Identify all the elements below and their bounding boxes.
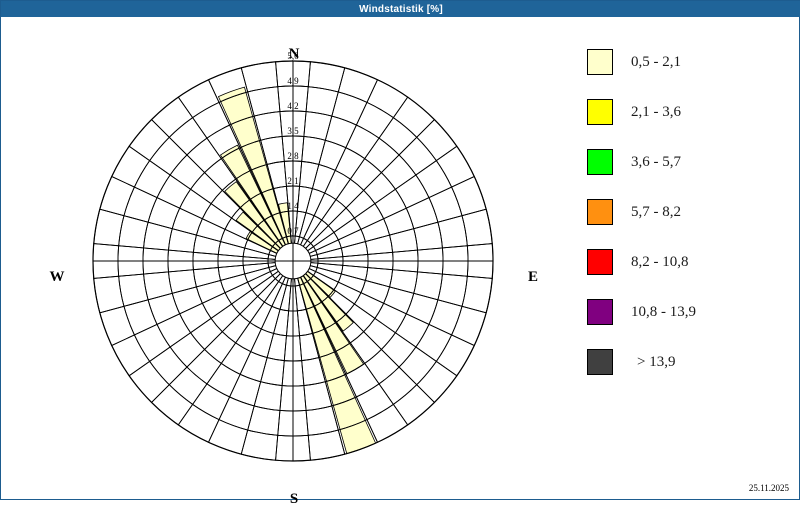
grid-cell [416, 324, 452, 361]
legend-color-swatch [587, 249, 613, 275]
grid-cell [384, 208, 414, 235]
legend-color-swatch [587, 349, 613, 375]
grid-cell [384, 287, 414, 314]
grid-cell [129, 361, 169, 402]
grid-cell [365, 138, 399, 172]
legend-color-swatch [587, 49, 613, 75]
grid-cell [170, 333, 204, 367]
grid-cell [399, 137, 436, 175]
legend-item-label: 8,2 - 10,8 [631, 254, 689, 271]
radial-tick-label: 0,7 [276, 226, 310, 236]
grid-cell [264, 281, 282, 306]
grid-cell [148, 293, 180, 324]
grid-cell [100, 176, 135, 215]
radial-tick-label: 4,2 [276, 101, 310, 111]
grid-cell [232, 290, 258, 314]
grid-cell [193, 384, 230, 420]
grid-cell [319, 140, 346, 170]
grid-cell [364, 318, 396, 349]
grid-cell [157, 175, 191, 208]
grid-cell [332, 92, 367, 125]
grid-cell [390, 270, 418, 294]
grid-cell [261, 306, 280, 333]
grid-cell [187, 138, 221, 172]
radial-tick-label: 3,5 [276, 126, 310, 136]
grid-cell [350, 159, 381, 191]
legend-item-label: 0,5 - 2,1 [631, 54, 681, 71]
grid-cell [170, 155, 204, 189]
grid-cell [191, 173, 223, 204]
grid-cell [172, 208, 202, 235]
grid-cell [187, 349, 221, 383]
grid-cell [218, 242, 244, 257]
grid-cell [274, 309, 289, 335]
grid-cell [325, 116, 356, 148]
grid-cell [221, 229, 248, 248]
grid-cell [452, 176, 487, 215]
grid-cell [341, 265, 367, 280]
grid-cell [436, 335, 474, 376]
grid-cell [112, 335, 150, 376]
grid-cell [364, 173, 396, 204]
grid-cell [169, 367, 207, 404]
legend-item: > 13,9 [587, 337, 787, 387]
grid-cell [365, 235, 392, 254]
grid-cell [379, 367, 417, 404]
grid-cell [399, 347, 436, 385]
grid-cell [180, 303, 211, 332]
grid-cell [254, 382, 282, 411]
grid-cell [346, 125, 379, 159]
window-title: Windstatistik [%] [359, 4, 443, 15]
legend-item-label: 2,1 - 3,6 [631, 104, 681, 121]
grid-cell [168, 270, 196, 294]
grid-cell [152, 97, 193, 137]
compass-label-east: E [513, 269, 553, 286]
grid-cell [169, 118, 207, 155]
grid-cell [157, 314, 191, 347]
grid-cell [393, 97, 434, 137]
grid-cell [414, 272, 443, 300]
grid-cell [178, 404, 219, 442]
windrose-petal [298, 277, 376, 453]
grid-cell [338, 274, 365, 293]
grid-cell [205, 332, 236, 364]
grid-cell [393, 385, 434, 425]
grid-cell [365, 349, 399, 383]
legend-item-label: 5,7 - 8,2 [631, 204, 681, 221]
grid-cell [172, 287, 202, 314]
grid-cell [134, 161, 170, 198]
legend-color-swatch [587, 299, 613, 325]
legend-item-label: 3,6 - 5,7 [631, 154, 681, 171]
grid-cell [112, 146, 150, 187]
grid-cell [124, 187, 157, 222]
legend-color-swatch [587, 99, 613, 125]
legend-color-swatch [587, 149, 613, 175]
grid-cell [429, 300, 462, 335]
windrose-plot-area: N E S W 0,71,42,12,83,54,24,95,6 [1, 18, 567, 500]
radial-tick-label: 4,9 [276, 76, 310, 86]
grid-cell [221, 343, 250, 374]
grid-cell [417, 120, 457, 161]
radial-tick-label: 5,6 [276, 51, 310, 61]
legend-item-label: > 13,9 [637, 354, 675, 371]
legend-item: 5,7 - 8,2 [587, 187, 787, 237]
grid-cell [395, 314, 429, 347]
grid-cell [152, 385, 193, 425]
grid-cell [168, 229, 196, 253]
grid-cell [436, 146, 474, 187]
grid-cell [452, 306, 487, 345]
grid-cell [414, 222, 443, 250]
grid-cell [395, 175, 429, 208]
grid-cell [191, 318, 223, 349]
grid-cell [150, 347, 187, 385]
grid-cell [375, 189, 406, 218]
grid-cell [322, 200, 346, 226]
grid-cell [144, 222, 173, 250]
grid-cell [240, 296, 264, 322]
grid-cell [178, 80, 219, 118]
grid-cell [381, 333, 415, 367]
grid-cell [261, 358, 285, 386]
grid-cell [180, 189, 211, 218]
grid-cell [406, 293, 438, 324]
grid-cell [129, 120, 169, 161]
grid-cell [335, 148, 364, 179]
grid-cell [338, 68, 377, 103]
grid-cell [144, 272, 173, 300]
grid-cell [240, 352, 267, 382]
grid-cell [100, 306, 135, 345]
grid-cell [193, 268, 220, 287]
grid-cell [416, 161, 452, 198]
grid-cell [375, 303, 406, 332]
grid-cell [208, 420, 247, 455]
grid-cell [219, 397, 254, 430]
grid-cell [379, 118, 417, 155]
grid-cell [328, 208, 354, 232]
legend: 0,5 - 2,12,1 - 3,63,6 - 5,75,7 - 8,28,2 … [587, 37, 787, 387]
legend-color-swatch [587, 199, 613, 225]
compass-label-west: W [37, 269, 77, 286]
windrose-chart [1, 18, 567, 500]
window-titlebar: Windstatistik [%] [1, 1, 800, 17]
grid-cell [406, 198, 438, 229]
radial-tick-label: 1,4 [276, 201, 310, 211]
legend-item: 3,6 - 5,7 [587, 137, 787, 187]
grid-cell [356, 102, 393, 138]
radial-tick-label: 2,1 [276, 176, 310, 186]
radial-tick-label: 2,8 [276, 151, 310, 161]
date-stamp: 25.11.2025 [749, 483, 789, 493]
grid-cell [230, 374, 261, 406]
legend-item: 8,2 - 10,8 [587, 237, 787, 287]
grid-cell [390, 229, 418, 253]
grid-cell [207, 363, 240, 397]
grid-cell [417, 361, 457, 402]
grid-cell [367, 80, 408, 118]
grid-cell [134, 324, 170, 361]
grid-cell [150, 137, 187, 175]
legend-item: 0,5 - 2,1 [587, 37, 787, 87]
grid-cell [381, 155, 415, 189]
legend-item-label: 10,8 - 13,9 [631, 304, 696, 321]
grid-cell [148, 198, 180, 229]
legend-item: 10,8 - 13,9 [587, 287, 787, 337]
wind-statistics-window: Windstatistik [%] N E S W 0,71,42,12,83,… [0, 0, 800, 500]
legend-item: 2,1 - 3,6 [587, 87, 787, 137]
